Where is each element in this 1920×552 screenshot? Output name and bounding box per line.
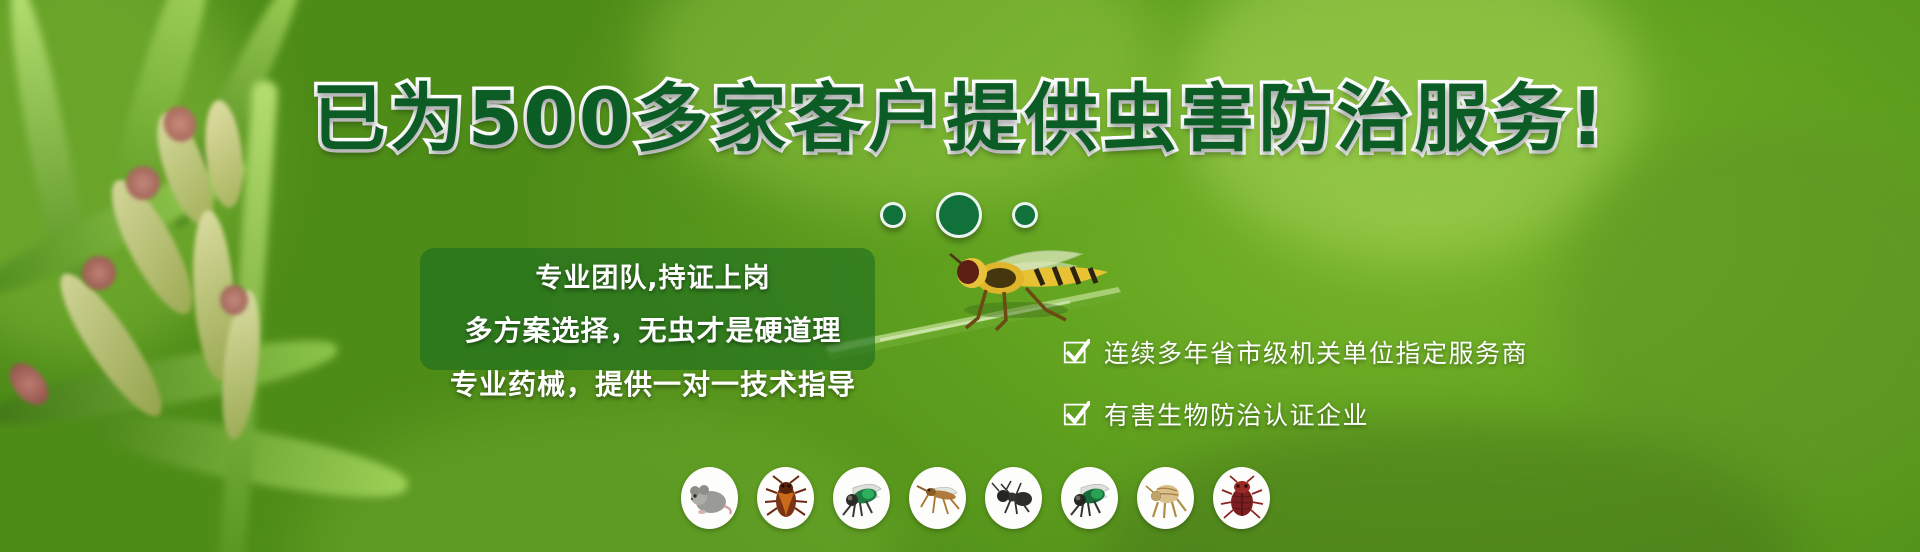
mouse-icon[interactable]	[681, 467, 738, 529]
small-dot	[880, 202, 906, 228]
page-title-text: 已为500多家客户提供虫害防治服务!	[312, 76, 1608, 162]
ant-icon[interactable]	[985, 467, 1042, 529]
mosquito-icon[interactable]	[909, 467, 966, 529]
credentials-list: 连续多年省市级机关单位指定服务商 有害生物防治认证企业	[1063, 334, 1528, 432]
list-item: 有害生物防治认证企业	[1063, 396, 1528, 432]
feature-line-2: 多方案选择，无虫才是硬道理	[464, 309, 841, 349]
cockroach-icon[interactable]	[757, 467, 814, 529]
feature-line-3: 专业药械，提供一对一技术指导	[450, 363, 856, 403]
page-title: 已为500多家客户提供虫害防治服务!	[0, 82, 1920, 156]
blowfly-icon[interactable]	[1061, 467, 1118, 529]
list-item-label: 有害生物防治认证企业	[1104, 396, 1369, 432]
feature-panel-text: 专业团队,持证上岗 多方案选择，无虫才是硬道理 专业药械，提供一对一技术指导	[418, 256, 888, 403]
checkbox-checked-icon	[1063, 401, 1090, 428]
bokeh-blob	[1560, 120, 1920, 500]
feature-line-1: 专业团队,持证上岗	[535, 256, 770, 295]
flea-icon[interactable]	[1137, 467, 1194, 529]
list-item: 连续多年省市级机关单位指定服务商	[1063, 334, 1528, 370]
list-item-label: 连续多年省市级机关单位指定服务商	[1104, 334, 1528, 370]
bedbug-icon[interactable]	[1213, 467, 1270, 529]
fly-icon[interactable]	[833, 467, 890, 529]
large-dot	[936, 192, 982, 238]
decorative-dots	[880, 192, 1038, 238]
pest-icon-row	[681, 467, 1270, 529]
checkbox-checked-icon	[1063, 339, 1090, 366]
promo-banner: 已为500多家客户提供虫害防治服务! 专业团队,持证上岗 多方案选择，无虫才是硬…	[0, 0, 1920, 552]
small-dot	[1012, 202, 1038, 228]
